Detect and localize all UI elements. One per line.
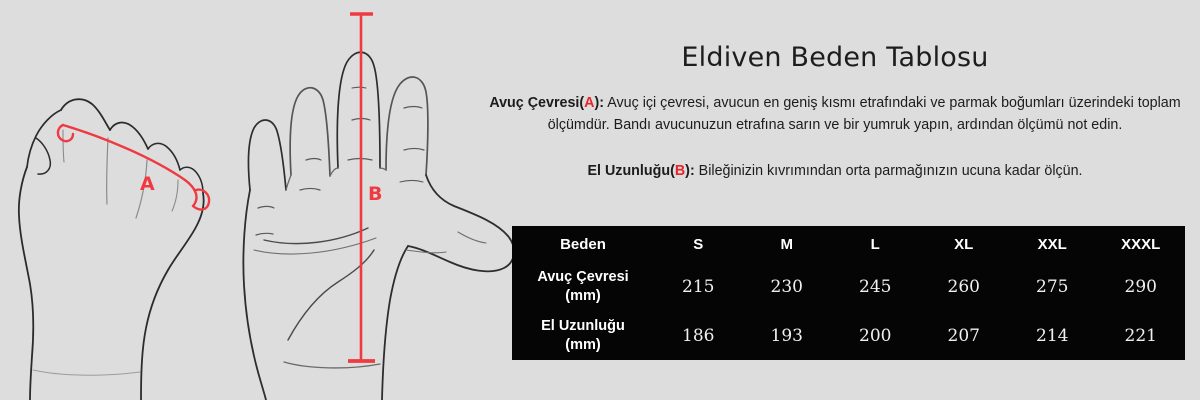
description-label-palm: Avuç Çevresi <box>489 95 579 111</box>
size-chart-page: A <box>0 0 1200 400</box>
cell-palm-xxl: 275 <box>1008 262 1097 311</box>
cell-palm-xxxl: 290 <box>1097 262 1186 311</box>
row-label-text: El Uzunluğu <box>541 318 625 334</box>
measurement-label-a: A <box>140 173 155 195</box>
column-header-m: M <box>743 226 832 262</box>
cell-palm-xl: 260 <box>920 262 1009 311</box>
cell-length-m: 193 <box>743 311 832 360</box>
description-palm-circumference: Avuç Çevresi(A): Avuç içi çevresi, avucu… <box>476 92 1194 136</box>
table-row: Avuç Çevresi (mm) 215 230 245 260 275 29… <box>512 262 1185 311</box>
row-label-text: Avuç Çevresi <box>537 269 628 285</box>
row-label-hand-length: El Uzunluğu (mm) <box>512 311 654 360</box>
closed-fist-hand-drawing: A <box>0 70 240 400</box>
row-label-palm-circumference: Avuç Çevresi (mm) <box>512 262 654 311</box>
row-label-unit: (mm) <box>512 287 654 306</box>
cell-length-xl: 207 <box>920 311 1009 360</box>
column-header-s: S <box>654 226 743 262</box>
column-header-beden: Beden <box>512 226 654 262</box>
marker-a: A <box>584 95 594 111</box>
cell-palm-m: 230 <box>743 262 832 311</box>
cell-length-xxl: 214 <box>1008 311 1097 360</box>
marker-b: B <box>675 163 685 179</box>
column-header-l: L <box>831 226 920 262</box>
table-header-row: Beden S M L XL XXL XXXL <box>512 226 1185 262</box>
column-header-xxxl: XXXL <box>1097 226 1186 262</box>
description-label-length: El Uzunluğu <box>587 163 670 179</box>
size-table: Beden S M L XL XXL XXXL Avuç Çevresi (mm… <box>512 226 1185 360</box>
row-label-unit: (mm) <box>512 336 654 355</box>
description-hand-length: El Uzunluğu(B): Bileğinizin kıvrımından … <box>476 160 1194 182</box>
measurement-label-b: B <box>368 183 382 205</box>
cell-length-l: 200 <box>831 311 920 360</box>
column-header-xxl: XXL <box>1008 226 1097 262</box>
description-text-length: Bileğinizin kıvrımından orta parmağınızı… <box>695 163 1083 179</box>
cell-palm-l: 245 <box>831 262 920 311</box>
size-table-container: Beden S M L XL XXL XXXL Avuç Çevresi (mm… <box>512 226 1185 360</box>
cell-length-xxxl: 221 <box>1097 311 1186 360</box>
column-header-xl: XL <box>920 226 1009 262</box>
description-text-palm: Avuç içi çevresi, avucun en geniş kısmı … <box>548 95 1181 133</box>
page-title: Eldiven Beden Tablosu <box>470 42 1200 73</box>
cell-length-s: 186 <box>654 311 743 360</box>
table-row: El Uzunluğu (mm) 186 193 200 207 214 221 <box>512 311 1185 360</box>
cell-palm-s: 215 <box>654 262 743 311</box>
